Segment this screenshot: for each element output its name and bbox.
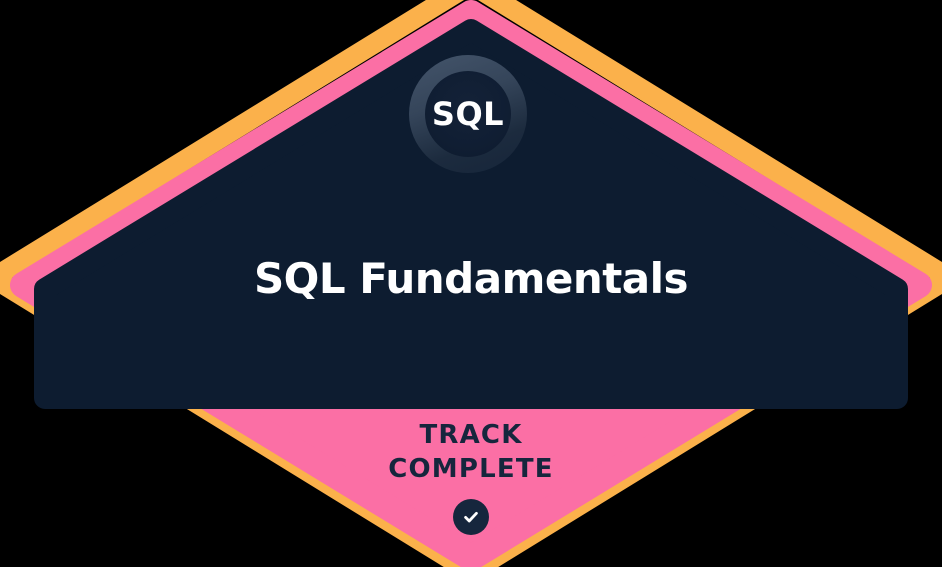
skill-chip-core: SQL <box>425 71 511 157</box>
track-title: SQL Fundamentals <box>0 255 942 302</box>
completion-status: TRACK COMPLETE <box>0 419 942 535</box>
skill-chip-label: SQL <box>432 98 504 130</box>
check-circle-icon <box>453 499 489 535</box>
track-badge: SQL SQL Fundamentals TRACK COMPLETE <box>0 0 942 567</box>
skill-chip: SQL <box>409 55 527 173</box>
completion-line-primary: TRACK <box>0 419 942 453</box>
completion-line-secondary: COMPLETE <box>0 453 942 487</box>
